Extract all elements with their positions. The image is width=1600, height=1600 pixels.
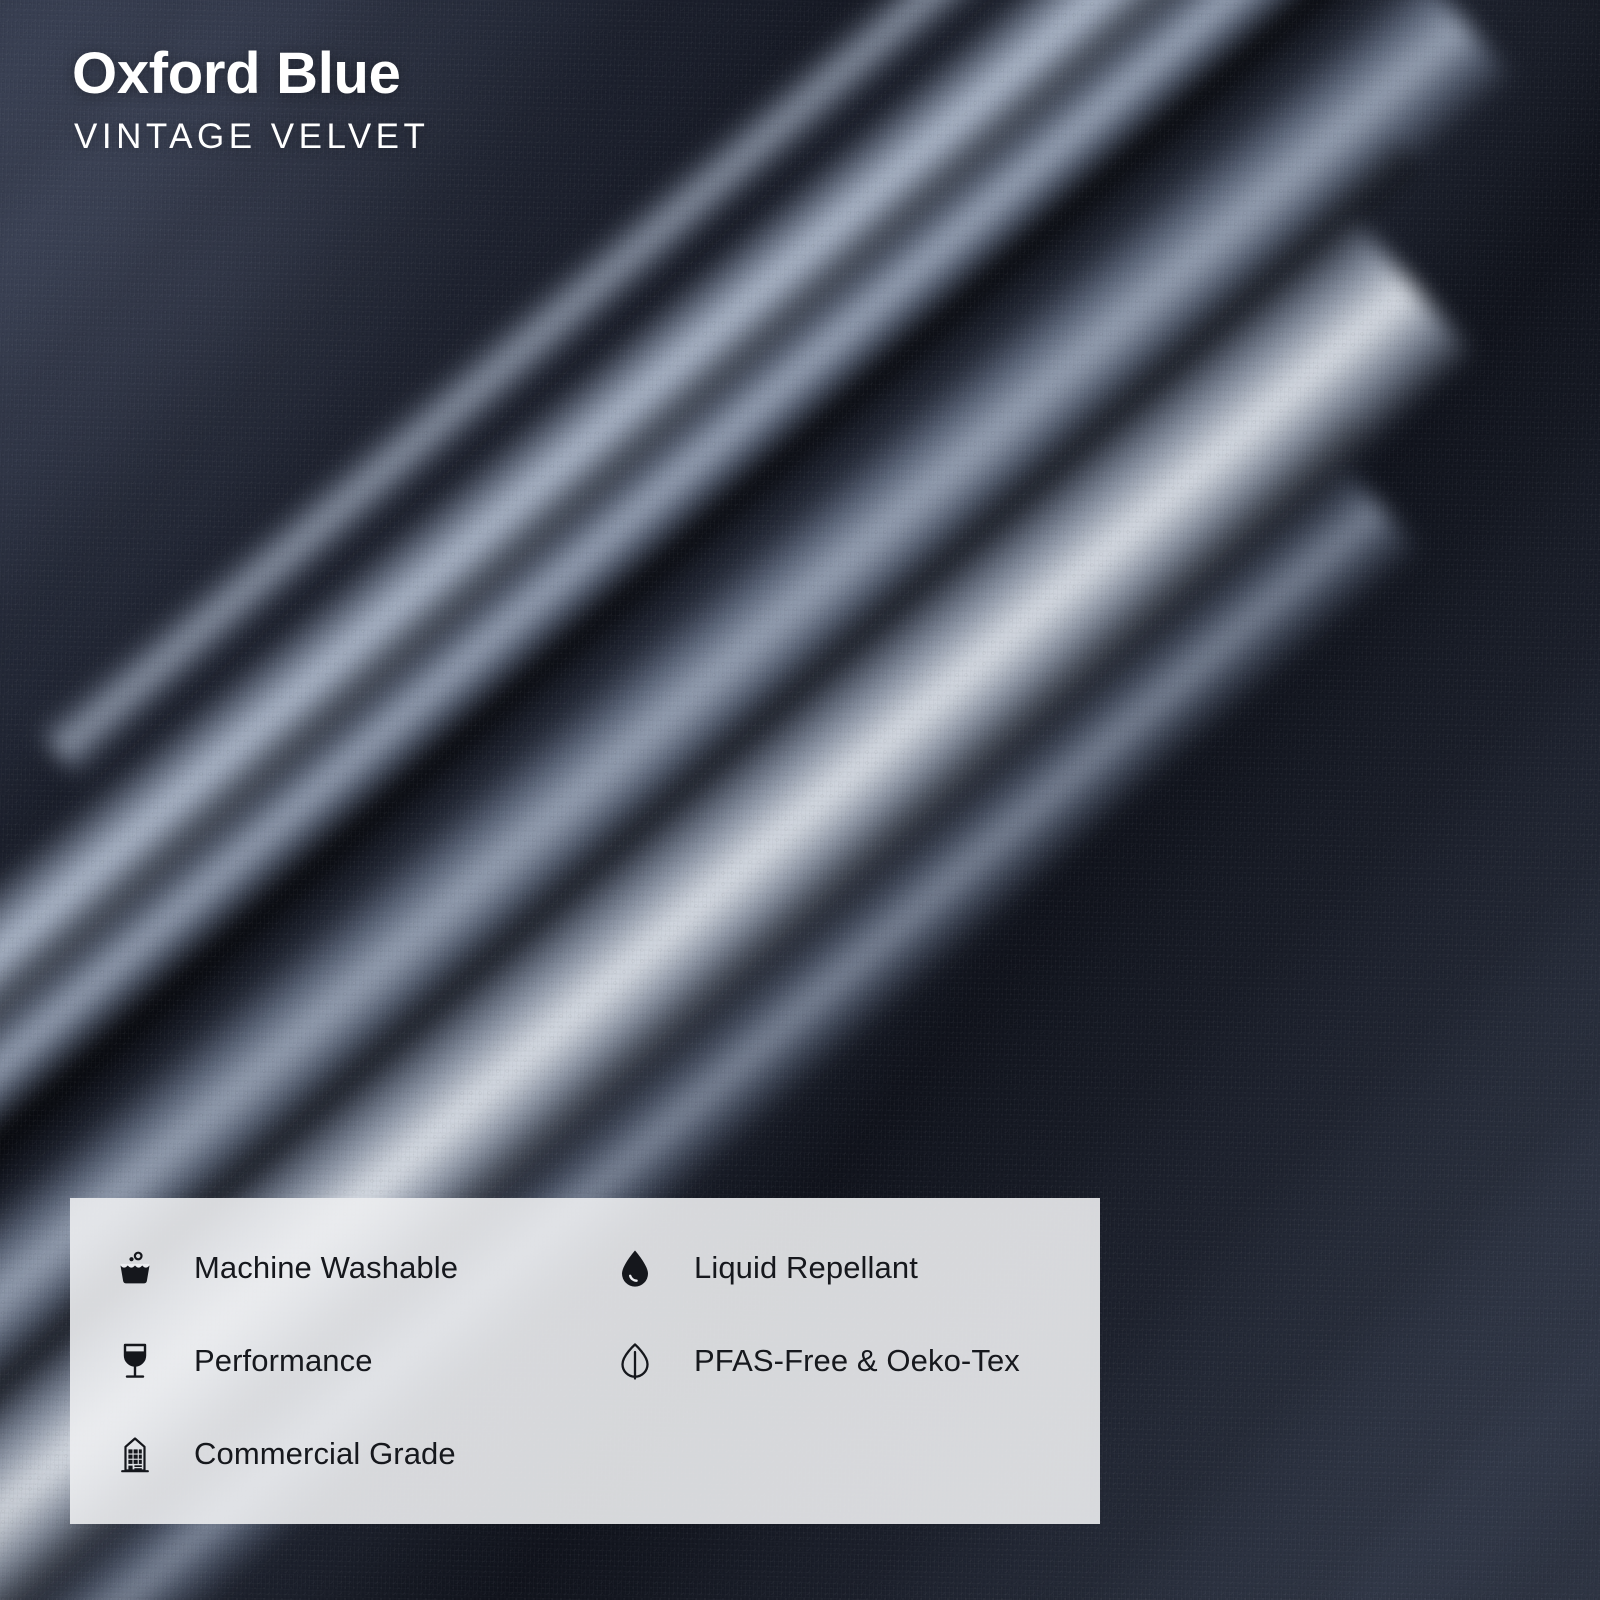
feature-label: Machine Washable — [194, 1250, 458, 1286]
building-icon — [112, 1431, 158, 1477]
feature-list: Machine Washable Liquid Repellant — [70, 1198, 1100, 1524]
washing-tub-icon — [112, 1245, 158, 1291]
feature-panel: Machine Washable Liquid Repellant — [70, 1198, 1100, 1524]
feature-item-pfas-free-oeko-tex: PFAS-Free & Oeko-Tex — [612, 1315, 1100, 1408]
feature-label: Liquid Repellant — [694, 1250, 918, 1286]
feature-label: Performance — [194, 1343, 373, 1379]
feature-item-liquid-repellant: Liquid Repellant — [612, 1222, 1100, 1315]
feature-label: Commercial Grade — [194, 1436, 456, 1472]
product-swatch-image: Oxford Blue VINTAGE VELVET Machine Washa — [0, 0, 1600, 1600]
wine-glass-icon — [112, 1338, 158, 1384]
feature-label: PFAS-Free & Oeko-Tex — [694, 1343, 1020, 1379]
feature-item-performance: Performance — [112, 1315, 612, 1408]
feature-item-commercial-grade: Commercial Grade — [112, 1407, 612, 1500]
product-color-name: Oxford Blue — [72, 44, 429, 105]
feature-item-machine-washable: Machine Washable — [112, 1222, 612, 1315]
headline-block: Oxford Blue VINTAGE VELVET — [72, 44, 429, 154]
leaf-icon — [612, 1338, 658, 1384]
water-droplet-icon — [612, 1245, 658, 1291]
product-collection-name: VINTAGE VELVET — [74, 119, 429, 154]
